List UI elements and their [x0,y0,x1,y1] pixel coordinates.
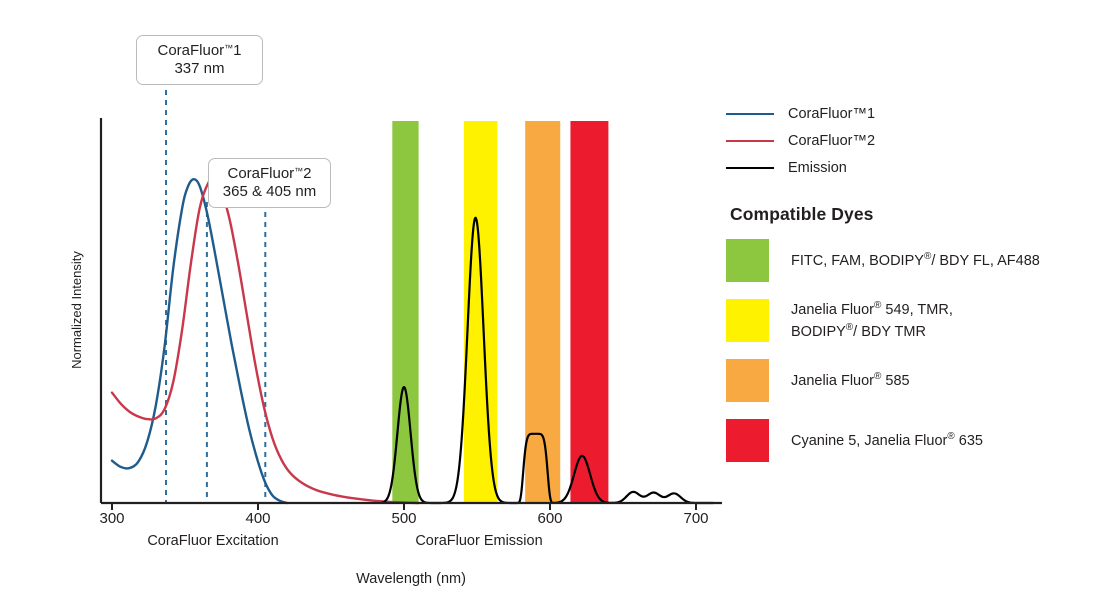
dye-color-swatch [726,359,769,402]
excitation-marker-lines [166,90,265,503]
red-band [570,121,608,503]
callout2-line2: 365 & 405 nm [219,183,320,201]
dye-label-line: BODIPY®/ BDY TMR [791,321,953,342]
dye-row: Janelia Fluor® 585 [726,359,1110,402]
dye-label-line: Cyanine 5, Janelia Fluor® 635 [791,430,983,451]
spectra-chart: 300 400 500 600 700 CoraFluor Excitation… [0,0,740,612]
callout1-line1: CoraFluor™1 [147,42,252,60]
orange-band [525,121,560,503]
registered-symbol: ® [924,251,931,262]
callout1-line2: 337 nm [147,60,252,78]
chart-svg: 300 400 500 600 700 CoraFluor Excitation… [0,0,740,612]
legend-item-2: CoraFluor™2 [726,127,1110,154]
compatible-dyes-list: FITC, FAM, BODIPY®/ BDY FL, AF488Janelia… [726,239,1110,462]
legend-line-swatch [726,140,774,142]
dye-color-swatch [726,239,769,282]
x-axis-title: Wavelength (nm) [356,571,466,587]
xtick-label-300: 300 [99,510,124,527]
registered-symbol: ® [947,431,954,442]
dye-label: Janelia Fluor® 549, TMR,BODIPY®/ BDY TMR [791,299,953,341]
dye-label-line: Janelia Fluor® 549, TMR, [791,299,953,320]
legend-item-label: Emission [788,160,847,176]
wavelength-bands [392,121,608,503]
legend-item-label: CoraFluor™2 [788,133,875,149]
trademark-symbol: ™ [224,43,233,53]
curve-corafluor1 [112,179,287,503]
callout-corafluor2: CoraFluor™2 365 & 405 nm [208,158,331,208]
dye-color-swatch [726,299,769,342]
y-axis-title: Normalized Intensity [69,251,84,369]
callout-corafluor1: CoraFluor™1 337 nm [136,35,263,85]
xtick-label-600: 600 [537,510,562,527]
xtick-label-700: 700 [683,510,708,527]
dye-label-line: FITC, FAM, BODIPY®/ BDY FL, AF488 [791,250,1040,271]
registered-symbol: ® [846,322,853,333]
dye-label: Cyanine 5, Janelia Fluor® 635 [791,430,983,451]
dye-color-swatch [726,419,769,462]
series-legend: CoraFluor™1CoraFluor™2Emission [726,100,1110,181]
legend-panel: CoraFluor™1CoraFluor™2Emission Compatibl… [726,100,1110,479]
legend-line-swatch [726,113,774,115]
legend-item-1: CoraFluor™1 [726,100,1110,127]
trademark-symbol: ™ [294,166,303,176]
sub-label-excitation: CoraFluor Excitation [147,533,278,549]
dye-label: FITC, FAM, BODIPY®/ BDY FL, AF488 [791,250,1040,271]
compatible-dyes-title: Compatible Dyes [730,204,1110,225]
legend-item-label: CoraFluor™1 [788,106,875,122]
dye-row: FITC, FAM, BODIPY®/ BDY FL, AF488 [726,239,1110,282]
dye-label-line: Janelia Fluor® 585 [791,370,910,391]
legend-item-3: Emission [726,154,1110,181]
xtick-label-400: 400 [245,510,270,527]
dye-label: Janelia Fluor® 585 [791,370,910,391]
registered-symbol: ® [874,371,881,382]
xtick-label-500: 500 [391,510,416,527]
sub-label-emission: CoraFluor Emission [415,533,542,549]
callout2-line1: CoraFluor™2 [219,165,320,183]
legend-line-swatch [726,167,774,169]
registered-symbol: ® [874,300,881,311]
dye-row: Cyanine 5, Janelia Fluor® 635 [726,419,1110,462]
dye-row: Janelia Fluor® 549, TMR,BODIPY®/ BDY TMR [726,299,1110,342]
